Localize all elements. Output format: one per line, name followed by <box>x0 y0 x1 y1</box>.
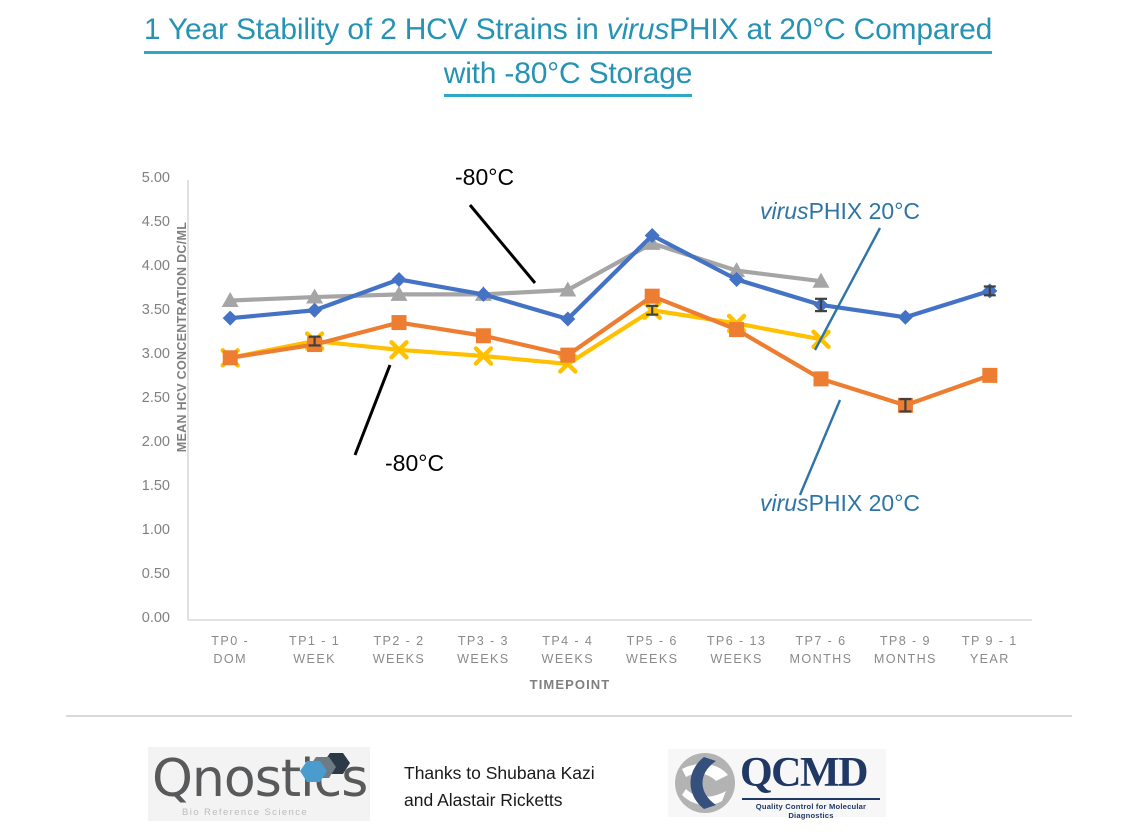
leader-line-virusphix-bottom <box>800 400 840 495</box>
footer: Qnostics Bio Reference Science Thanks to… <box>0 735 1136 835</box>
annotation-minus80-bottom: -80°C <box>385 450 444 477</box>
series-line <box>230 235 990 319</box>
annotation-virusphix-top: virusPHIX 20°C <box>760 198 920 225</box>
acknowledgement-line-2: and Alastair Ricketts <box>404 787 595 814</box>
marker-square <box>645 289 660 304</box>
leader-line-minus80-bottom <box>355 365 390 455</box>
annotation-virusphix-top-rest: PHIX 20°C <box>809 198 920 224</box>
footer-divider <box>66 715 1072 717</box>
marker-diamond <box>307 303 322 318</box>
marker-diamond <box>392 272 407 287</box>
marker-square <box>982 368 997 383</box>
annotation-virusphix-top-italic: virus <box>760 198 809 224</box>
annotation-virusphix-bottom-rest: PHIX 20°C <box>809 490 920 516</box>
plot-svg <box>70 150 1070 710</box>
qcmd-swirl-icon <box>672 751 738 815</box>
marker-diamond <box>223 311 238 326</box>
qcmd-logo-tagline: Quality Control for Molecular Diagnostic… <box>742 798 880 820</box>
marker-square <box>560 348 575 363</box>
marker-square <box>814 371 829 386</box>
annotation-minus80-top: -80°C <box>455 164 514 191</box>
marker-square <box>729 322 744 337</box>
annotation-virusphix-bottom: virusPHIX 20°C <box>760 490 920 517</box>
title-line-1: 1 Year Stability of 2 HCV Strains in vir… <box>0 10 1136 54</box>
qcmd-logo: QCMD Quality Control for Molecular Diagn… <box>668 749 886 817</box>
title-line1-italic: virus <box>607 13 669 46</box>
title-line2-text: with -80°C Storage <box>444 54 693 98</box>
title-line1-post: PHIX at 20°C Compared <box>669 13 992 46</box>
marker-diamond <box>898 310 913 325</box>
annotation-virusphix-bottom-italic: virus <box>760 490 809 516</box>
marker-square <box>392 315 407 330</box>
qnostics-logo-tagline: Bio Reference Science <box>182 807 308 818</box>
page-title: 1 Year Stability of 2 HCV Strains in vir… <box>0 10 1136 97</box>
title-line1-pre: 1 Year Stability of 2 HCV Strains in <box>144 13 607 46</box>
acknowledgement-text: Thanks to Shubana Kazi and Alastair Rick… <box>404 760 595 814</box>
title-line-2: with -80°C Storage <box>0 54 1136 98</box>
series-layer <box>222 228 998 413</box>
acknowledgement-line-1: Thanks to Shubana Kazi <box>404 760 595 787</box>
chart-container: MEAN HCV CONCENTRATION DC/ML TIMEPOINT 0… <box>70 150 1070 710</box>
leader-line-virusphix-top <box>815 228 880 350</box>
qnostics-hex-icon <box>300 751 352 785</box>
series-diamond <box>223 228 998 327</box>
qnostics-logo: Qnostics Bio Reference Science <box>148 747 370 821</box>
leader-line-minus80-top <box>470 205 535 283</box>
marker-square <box>476 328 491 343</box>
qcmd-logo-text: QCMD <box>740 749 867 797</box>
marker-square <box>223 350 238 365</box>
series-square <box>223 289 998 413</box>
